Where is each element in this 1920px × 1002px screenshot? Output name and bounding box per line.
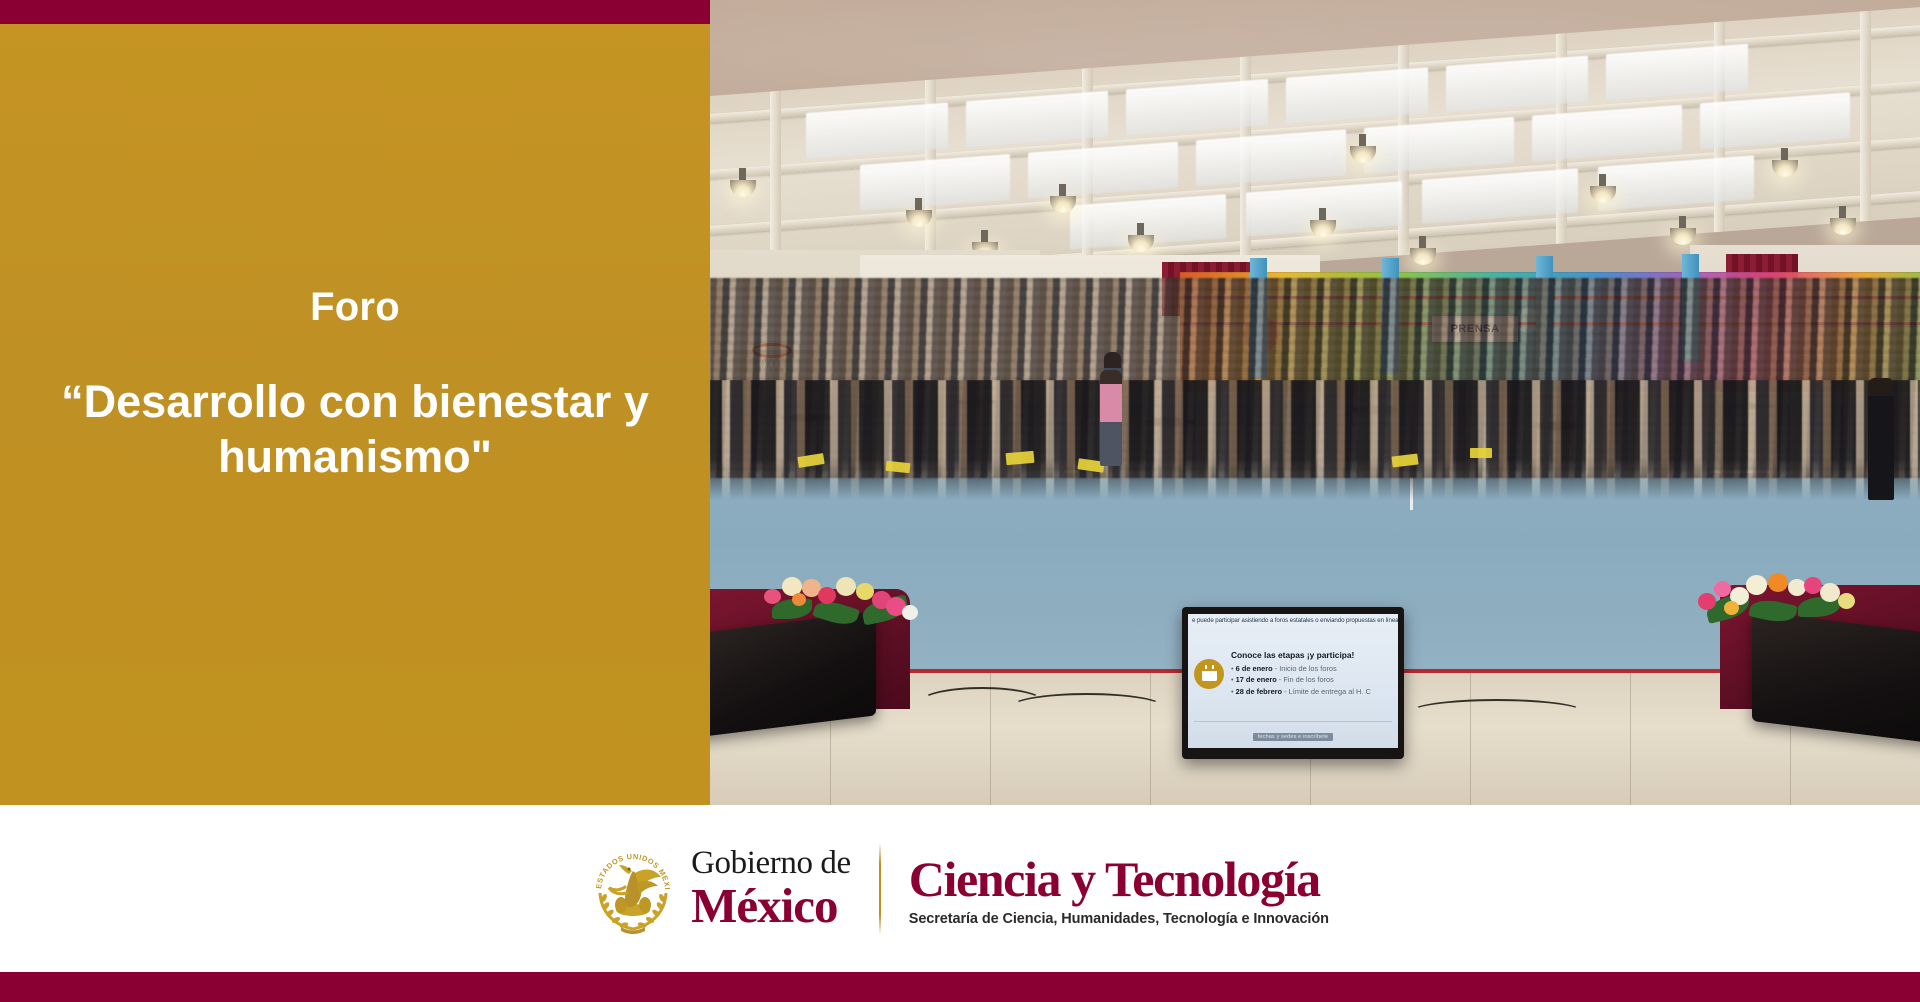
slide-heading: Conoce las etapas ¡y participa! bbox=[1231, 650, 1371, 660]
slide-text-block: Conoce las etapas ¡y participa! • 6 de e… bbox=[1231, 650, 1371, 696]
hero-kicker: Foro bbox=[310, 285, 400, 329]
top-accent-bar bbox=[0, 0, 710, 24]
slide-footer-chip: fechas y sedes e inscríbete bbox=[1253, 733, 1333, 741]
slide-item: • 17 de enero - Fin de los foros bbox=[1231, 674, 1371, 685]
slide-item: • 6 de enero - Inicio de los foros bbox=[1231, 663, 1371, 674]
audience-front-rows bbox=[710, 380, 1920, 500]
gobierno-line-1: Gobierno de bbox=[691, 847, 851, 880]
slide-item: • 28 de febrero - Límite de entrega al H… bbox=[1231, 686, 1371, 697]
presentation-monitor: e puede participar asistiendo a foros es… bbox=[1182, 607, 1404, 759]
gobierno-line-2: México bbox=[691, 881, 851, 930]
flower-arrangement-right bbox=[1696, 571, 1868, 627]
event-photo: PRENSA bbox=[710, 0, 1920, 805]
yellow-folder bbox=[1006, 451, 1035, 465]
yellow-folder bbox=[1470, 448, 1492, 458]
logo-divider bbox=[879, 843, 881, 935]
footer-branding: ESTADOS UNIDOS MEXICANOS Gobierno de Méx… bbox=[0, 805, 1920, 972]
stage-cable bbox=[1410, 699, 1584, 725]
calendar-icon bbox=[1194, 659, 1224, 689]
ceiling-lamp bbox=[1410, 248, 1436, 265]
mexican-coat-of-arms-icon: ESTADOS UNIDOS MEXICANOS bbox=[591, 841, 675, 937]
ceiling-lamp bbox=[1830, 218, 1856, 235]
ceiling-lamp bbox=[1670, 228, 1696, 245]
stage-cable bbox=[1010, 693, 1164, 721]
slide-body: Conoce las etapas ¡y participa! • 6 de e… bbox=[1188, 626, 1398, 721]
brand-title: Ciencia y Tecnología bbox=[909, 854, 1329, 904]
bottom-accent-bar bbox=[0, 972, 1920, 1002]
presentation-slide: e puede participar asistiendo a foros es… bbox=[1188, 614, 1398, 748]
hero-gold-panel: Foro “Desarrollo con bienestar y humanis… bbox=[0, 24, 710, 805]
gobierno-de-mexico-wordmark: Gobierno de México bbox=[691, 847, 851, 930]
page-title: “Desarrollo con bienestar y humanismo" bbox=[35, 375, 675, 485]
attendee-standing bbox=[1868, 378, 1894, 500]
gobierno-de-mexico-logo: ESTADOS UNIDOS MEXICANOS Gobierno de Méx… bbox=[591, 841, 851, 937]
slide-footer: fechas y sedes e inscríbete bbox=[1188, 725, 1398, 748]
attendee-standing bbox=[1100, 370, 1122, 466]
ciencia-y-tecnologia-logo: Ciencia y Tecnología Secretaría de Cienc… bbox=[909, 850, 1329, 927]
slide-top-line: e puede participar asistiendo a foros es… bbox=[1188, 614, 1398, 626]
flower-arrangement-left bbox=[758, 573, 928, 629]
brand-subtitle: Secretaría de Ciencia, Humanidades, Tecn… bbox=[909, 911, 1329, 927]
event-banner: Foro “Desarrollo con bienestar y humanis… bbox=[0, 0, 1920, 1002]
